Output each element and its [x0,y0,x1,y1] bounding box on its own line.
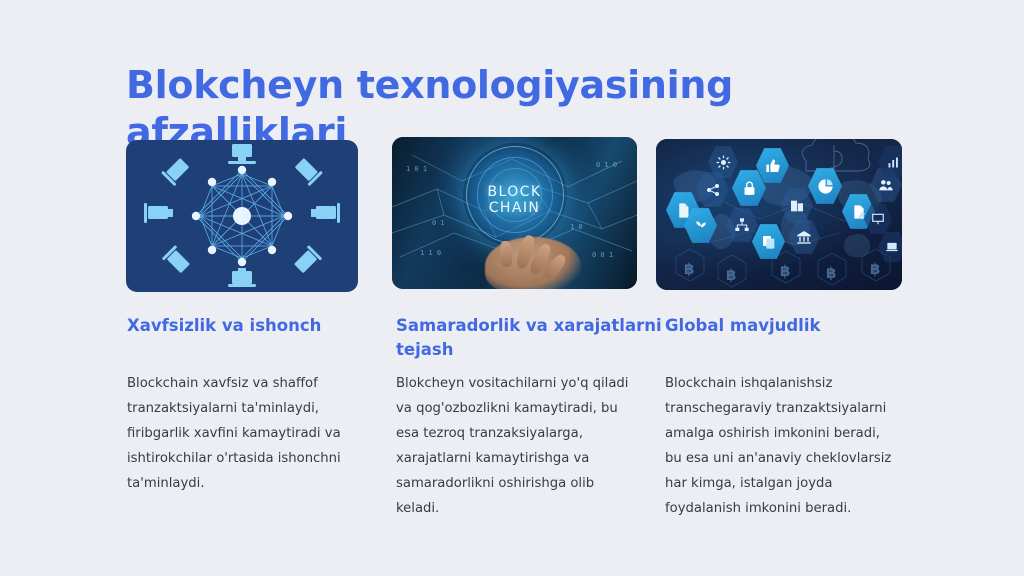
column-image-2: 1 0 10 1 0 1 1 00 0 1 1 00 1 BLOCK CHAIN [392,137,637,289]
column-heading-3: Global mavjudlik [665,314,915,338]
hand-thumb [499,241,513,268]
svg-text:฿: ฿ [870,260,880,278]
svg-text:฿: ฿ [826,264,836,282]
svg-text:0 1 0: 0 1 0 [596,161,617,169]
overlay-label-line-1: BLOCK [392,184,637,200]
svg-text:1 0: 1 0 [570,223,583,231]
blockchain-overlay-label: BLOCK CHAIN [392,184,637,216]
svg-text:1 0 1: 1 0 1 [406,165,427,173]
column-body-3: Blockchain ishqalanishsiz transchegaravi… [665,371,897,521]
column-body-2: Blokcheyn vositachilarni yo'q qiladi va … [396,371,631,521]
column-heading-1: Xavfsizlik va ishonch [127,314,377,338]
svg-text:฿: ฿ [780,262,790,280]
column-heading-2: Samaradorlik va xarajatlarni tejash [396,314,686,362]
overlay-label-line-2: CHAIN [392,200,637,216]
svg-text:0 1: 0 1 [432,219,445,227]
column-body-1: Blockchain xavfsiz va shaffof tranzaktsi… [127,371,362,496]
column-image-3: ฿฿฿ ฿฿ [656,139,902,290]
svg-text:฿: ฿ [726,266,736,284]
svg-text:฿: ฿ [684,260,694,278]
svg-text:1 1 0: 1 1 0 [420,249,441,257]
svg-text:0 0 1: 0 0 1 [592,251,613,259]
column-image-1 [126,140,358,292]
blockchain-network-nodes-icon [126,140,358,292]
